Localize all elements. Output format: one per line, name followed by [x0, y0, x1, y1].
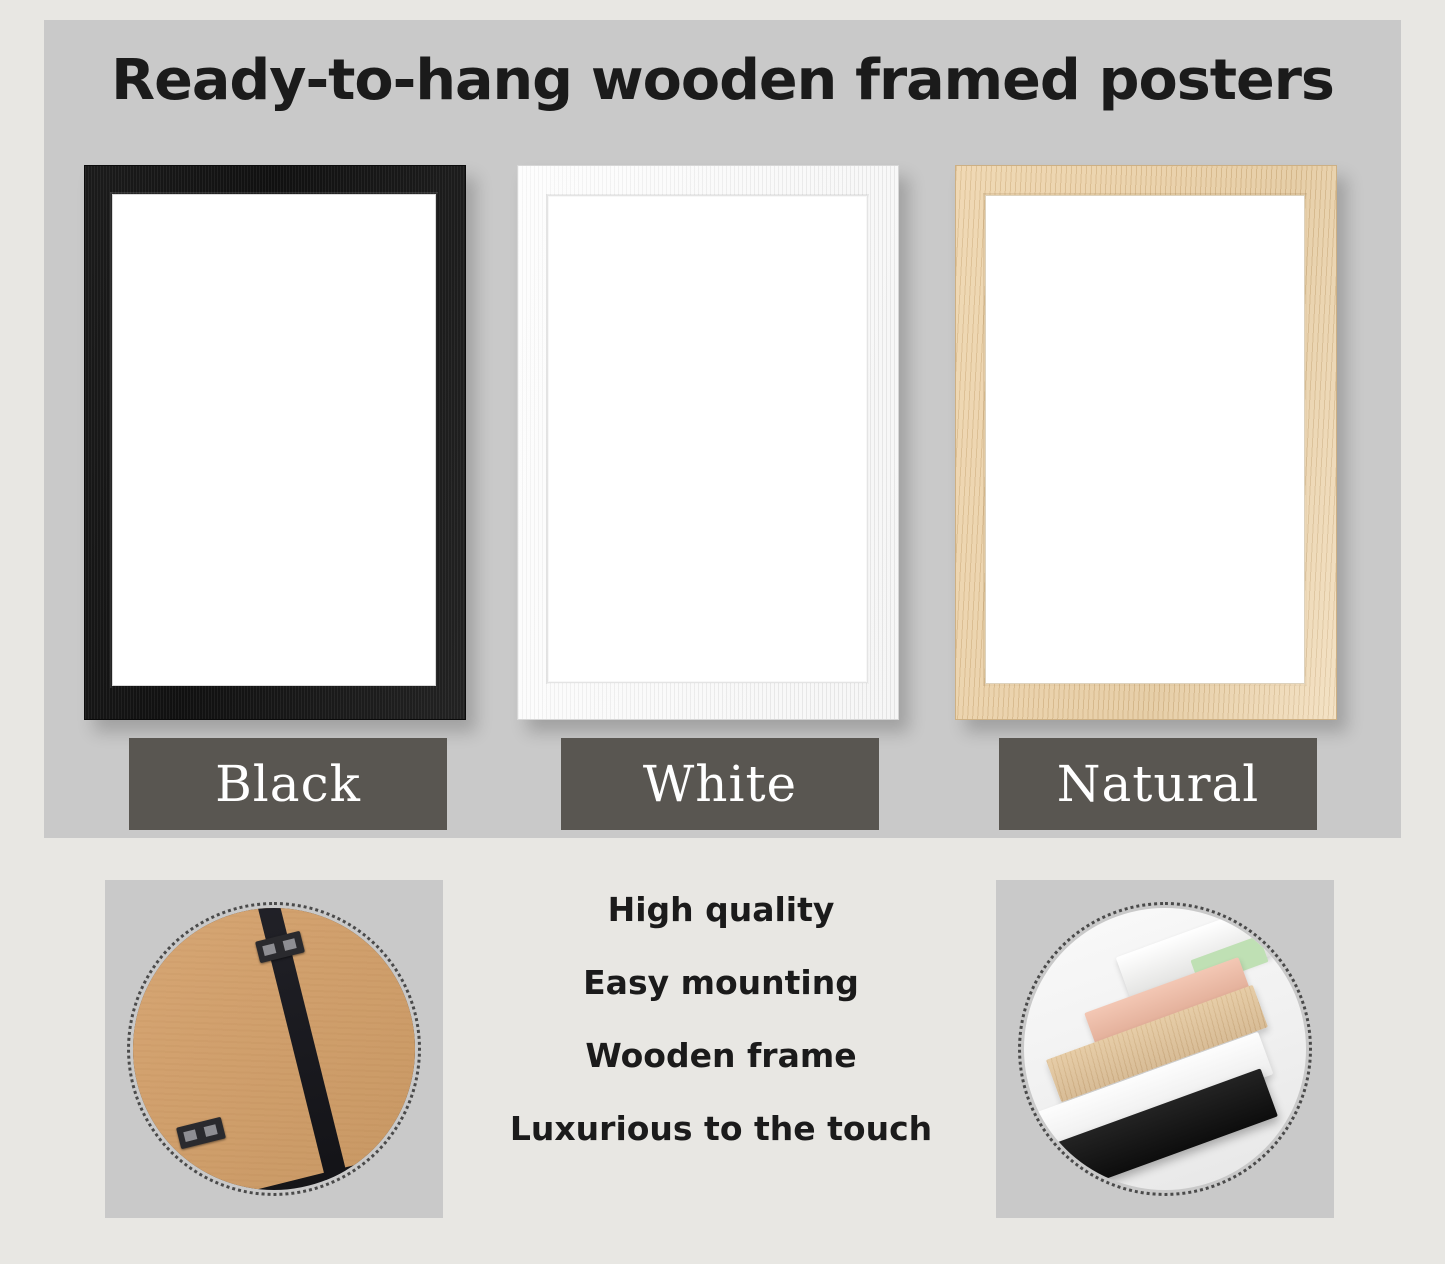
natural-frame-image — [955, 165, 1337, 720]
white-frame-poster-area — [548, 196, 867, 682]
frame-label-natural: Natural — [999, 738, 1317, 830]
black-frame-image — [84, 165, 466, 720]
frame-label-white: White — [561, 738, 879, 830]
photo-circle-inner-right — [1024, 908, 1306, 1190]
photo-circle-inner-left — [133, 908, 415, 1190]
mdf-backing-scene — [133, 908, 415, 1190]
frame-label-natural-text: Natural — [1057, 759, 1260, 809]
feature-item-2: Easy mounting — [446, 963, 996, 1002]
feature-item-3: Wooden frame — [446, 1036, 996, 1075]
black-frame-poster-area — [112, 194, 436, 686]
feature-item-1: High quality — [446, 890, 996, 929]
page-title: Ready-to-hang wooden framed posters — [30, 48, 1414, 113]
photo-circle-border-left — [127, 902, 421, 1196]
frame-variant-white[interactable] — [517, 165, 899, 720]
feature-list: High quality Easy mounting Wooden frame … — [446, 890, 996, 1148]
natural-frame-poster-area — [985, 195, 1305, 684]
white-frame-image — [517, 165, 899, 720]
frame-variants-row — [44, 165, 1401, 735]
frame-variant-natural[interactable] — [955, 165, 1337, 720]
frame-variant-black[interactable] — [84, 165, 466, 720]
frame-back-hanger-photo — [105, 880, 443, 1218]
stacked-corners-scene — [1024, 908, 1306, 1190]
photo-circle-border-right — [1018, 902, 1312, 1196]
frame-corner-stack-photo — [996, 880, 1334, 1218]
frame-label-white-text: White — [643, 759, 797, 809]
feature-item-4: Luxurious to the touch — [446, 1109, 996, 1148]
frame-label-black-text: Black — [215, 759, 361, 809]
frame-label-black: Black — [129, 738, 447, 830]
product-hero-panel: Ready-to-hang wooden framed posters — [44, 20, 1401, 838]
features-section: High quality Easy mounting Wooden frame … — [0, 870, 1445, 1264]
